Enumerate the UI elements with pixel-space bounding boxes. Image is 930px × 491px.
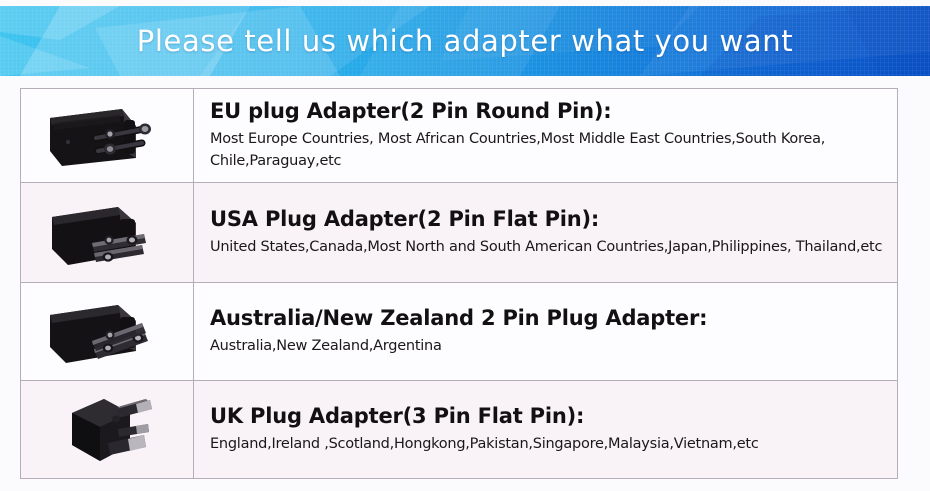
- adapter-text-cell: EU plug Adapter(2 Pin Round Pin): Most E…: [194, 89, 897, 182]
- australia-nz-2pin-plug-icon: [32, 291, 182, 373]
- adapter-text-cell: UK Plug Adapter(3 Pin Flat Pin): England…: [194, 381, 897, 478]
- adapter-image-cell: [21, 89, 194, 182]
- uk-flat-3pin-plug-icon: [32, 387, 182, 473]
- adapter-table: EU plug Adapter(2 Pin Round Pin): Most E…: [20, 88, 898, 479]
- header-banner: Please tell us which adapter what you wa…: [0, 6, 930, 76]
- adapter-description: Most Europe Countries, Most African Coun…: [210, 128, 883, 172]
- table-row[interactable]: USA Plug Adapter(2 Pin Flat Pin): United…: [21, 183, 897, 283]
- adapter-image-cell: [21, 183, 194, 282]
- adapter-text-cell: Australia/New Zealand 2 Pin Plug Adapter…: [194, 283, 897, 380]
- adapter-title: USA Plug Adapter(2 Pin Flat Pin):: [210, 207, 883, 232]
- adapter-description: United States,Canada,Most North and Sout…: [210, 236, 883, 258]
- table-row[interactable]: UK Plug Adapter(3 Pin Flat Pin): England…: [21, 381, 897, 478]
- table-row[interactable]: Australia/New Zealand 2 Pin Plug Adapter…: [21, 283, 897, 381]
- adapter-selection-page: Please tell us which adapter what you wa…: [0, 0, 930, 491]
- page-title: Please tell us which adapter what you wa…: [0, 24, 930, 58]
- adapter-image-cell: [21, 381, 194, 478]
- adapter-description: England,Ireland ,Scotland,Hongkong,Pakis…: [210, 433, 883, 455]
- adapter-title: Australia/New Zealand 2 Pin Plug Adapter…: [210, 306, 883, 331]
- adapter-text-cell: USA Plug Adapter(2 Pin Flat Pin): United…: [194, 183, 897, 282]
- adapter-image-cell: [21, 283, 194, 380]
- usa-flat-2pin-plug-icon: [32, 191, 182, 275]
- table-row[interactable]: EU plug Adapter(2 Pin Round Pin): Most E…: [21, 89, 897, 183]
- adapter-title: UK Plug Adapter(3 Pin Flat Pin):: [210, 404, 883, 429]
- eu-round-2pin-plug-icon: [32, 96, 182, 176]
- adapter-description: Australia,New Zealand,Argentina: [210, 335, 883, 357]
- adapter-title: EU plug Adapter(2 Pin Round Pin):: [210, 99, 883, 124]
